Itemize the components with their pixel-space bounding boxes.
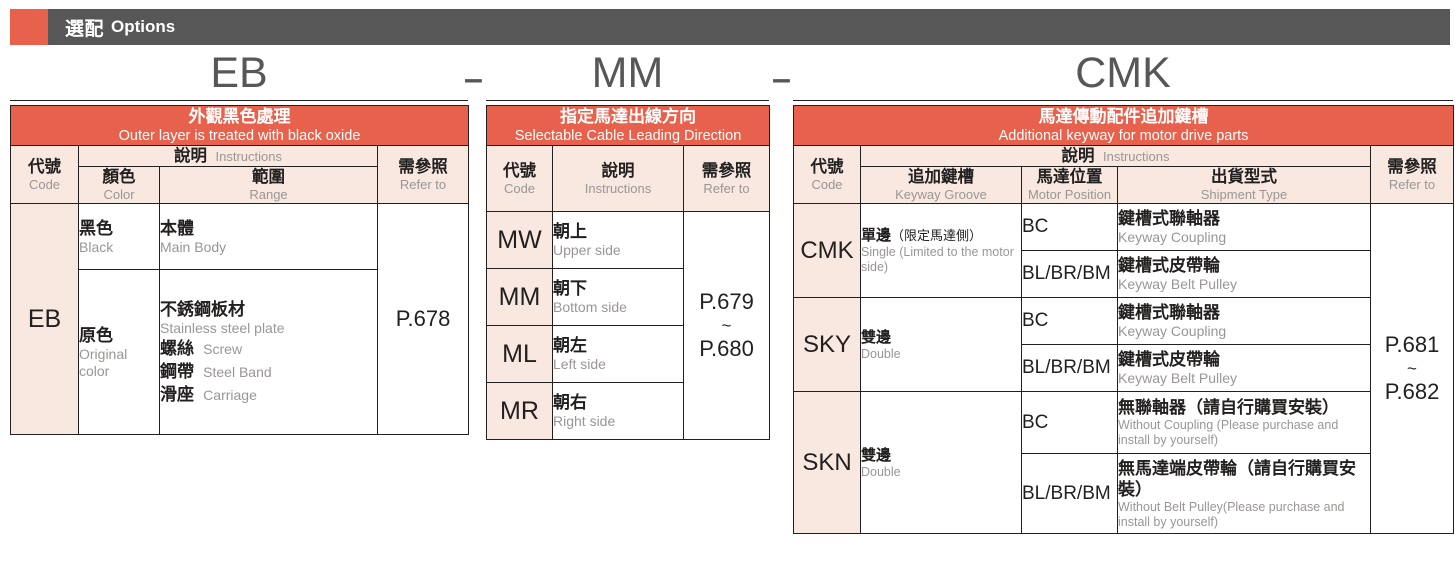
- col-header-color-cn: 顏色: [79, 167, 159, 187]
- cell-direction-bottom-cn: 朝下: [553, 278, 683, 299]
- table-row: MW 朝上 Upper side P.679 ~ P.680: [487, 212, 770, 269]
- col-header-code: 代號 Code: [487, 146, 553, 212]
- cell-shipment-keyway-coupling-en: Keyway Coupling: [1118, 323, 1370, 340]
- cell-shipment-keyway-coupling-cn: 鍵槽式聯軸器: [1118, 208, 1370, 229]
- banner-bar: 選配 Options: [48, 9, 1450, 45]
- col-header-refer-to-en: Refer to: [684, 181, 769, 197]
- table-cmk: 馬達傳動配件追加鍵槽 Additional keyway for motor d…: [793, 105, 1454, 534]
- banner-accent-swatch: [10, 9, 48, 45]
- cell-range-main-body-cn: 本體: [160, 218, 377, 239]
- col-header-motor-position-en: Motor Position: [1022, 187, 1117, 203]
- cell-direction-bottom: 朝下 Bottom side: [553, 269, 684, 326]
- col-header-shipment-type-en: Shipment Type: [1118, 187, 1370, 203]
- table-row: 馬達傳動配件追加鍵槽 Additional keyway for motor d…: [794, 106, 1454, 146]
- table-row: 代號 Code 說明 Instructions 需參照 Refer to: [487, 146, 770, 212]
- cell-motor-position-bc: BC: [1022, 204, 1118, 251]
- col-header-code-cn: 代號: [794, 157, 860, 177]
- cell-direction-bottom-en: Bottom side: [553, 299, 683, 316]
- cell-motor-position-blbrbm: BL/BR/BM: [1022, 454, 1118, 534]
- section-title-mm: MM: [486, 50, 769, 101]
- cell-range-steel-band: 鋼帶 Steel Band: [160, 361, 377, 383]
- cell-shipment-without-coupling-cn: 無聯軸器（請自行購買安裝）: [1118, 397, 1370, 418]
- table-eb-title-cell: 外觀黑色處理 Outer layer is treated with black…: [11, 106, 469, 146]
- cell-direction-left: 朝左 Left side: [553, 326, 684, 383]
- cell-keyway-double-skn: 雙邊 Double: [861, 392, 1022, 534]
- table-eb-title-en: Outer layer is treated with black oxide: [11, 127, 468, 145]
- cell-keyway-double-skn-en: Double: [861, 465, 1021, 480]
- table-row: 代號 Code 說明 Instructions 需參照 Refer to: [11, 146, 469, 167]
- col-header-range: 範圍 Range: [160, 167, 378, 204]
- col-header-motor-position: 馬達位置 Motor Position: [1022, 167, 1118, 204]
- cell-direction-right-en: Right side: [553, 413, 683, 430]
- cell-direction-left-en: Left side: [553, 356, 683, 373]
- cell-shipment-keyway-coupling: 鍵槽式聯軸器 Keyway Coupling: [1118, 298, 1371, 345]
- col-header-refer-to-cn: 需參照: [378, 157, 468, 177]
- cell-keyway-double-sky-cn: 雙邊: [861, 328, 1021, 347]
- cell-motor-position-bc: BC: [1022, 392, 1118, 454]
- cell-direction-upper-cn: 朝上: [553, 221, 683, 242]
- cell-range-carriage-en: Carriage: [203, 387, 257, 403]
- cell-refer-to-cmk-line1: P.681: [1385, 332, 1440, 357]
- table-cmk-title-cn: 馬達傳動配件追加鍵槽: [794, 106, 1453, 127]
- cell-color-original-cn: 原色: [79, 325, 159, 346]
- options-banner: 選配 Options: [10, 9, 1450, 45]
- cell-refer-to-mm-tilde: ~: [684, 316, 769, 335]
- col-header-code-en: Code: [11, 177, 78, 193]
- cell-keyway-double-sky: 雙邊 Double: [861, 298, 1022, 392]
- cell-color-black: 黑色 Black: [79, 204, 160, 270]
- cell-shipment-without-coupling-en: Without Coupling (Please purchase and in…: [1118, 418, 1370, 448]
- cell-color-black-en: Black: [79, 239, 159, 256]
- col-header-code-cn: 代號: [487, 161, 552, 181]
- cell-range-screw: 螺絲 Screw: [160, 338, 377, 360]
- cell-shipment-keyway-belt-pulley: 鍵槽式皮帶輪 Keyway Belt Pulley: [1118, 251, 1371, 298]
- table-row: CMK 單邊（限定馬達側） Single (Limited to the mot…: [794, 204, 1454, 251]
- section-title-cmk: CMK: [793, 50, 1453, 101]
- cell-range-steel-band-cn: 鋼帶: [160, 362, 194, 381]
- col-header-code-en: Code: [487, 181, 552, 197]
- cell-keyway-single-cn: 單邊（限定馬達側）: [861, 226, 1021, 245]
- cell-keyway-single: 單邊（限定馬達側） Single (Limited to the motor s…: [861, 204, 1022, 298]
- section-title-eb: EB: [10, 50, 468, 101]
- table-row: 代號 Code 說明 Instructions 需參照 Refer to: [794, 146, 1454, 167]
- cell-shipment-without-belt-pulley: 無馬達端皮帶輪（請自行購買安裝） Without Belt Pulley(Ple…: [1118, 454, 1371, 534]
- cell-range-main-body: 本體 Main Body: [160, 204, 378, 270]
- table-mm-title-en: Selectable Cable Leading Direction: [487, 127, 769, 145]
- cell-shipment-keyway-belt-pulley-cn: 鍵槽式皮帶輪: [1118, 349, 1370, 370]
- cell-code-eb: EB: [11, 204, 79, 435]
- col-header-code-en: Code: [794, 177, 860, 193]
- col-header-range-cn: 範圍: [160, 167, 377, 187]
- cell-code-skn: SKN: [794, 392, 861, 534]
- table-eb-title-cn: 外觀黑色處理: [11, 106, 468, 127]
- table-row: SKY 雙邊 Double BC 鍵槽式聯軸器 Keyway Coupling: [794, 298, 1454, 345]
- cell-shipment-keyway-coupling-en: Keyway Coupling: [1118, 229, 1370, 246]
- table-row: SKN 雙邊 Double BC 無聯軸器（請自行購買安裝） Without C…: [794, 392, 1454, 454]
- cell-direction-upper-en: Upper side: [553, 242, 683, 259]
- col-header-shipment-type-cn: 出貨型式: [1118, 167, 1370, 187]
- table-cmk-title-en: Additional keyway for motor drive parts: [794, 127, 1453, 145]
- col-header-instructions-en: Instructions: [215, 149, 281, 164]
- cell-color-original: 原色 Original color: [79, 270, 160, 435]
- cell-shipment-keyway-coupling: 鍵槽式聯軸器 Keyway Coupling: [1118, 204, 1371, 251]
- col-header-code: 代號 Code: [11, 146, 79, 204]
- col-header-color: 顏色 Color: [79, 167, 160, 204]
- cell-refer-to-mm-line2: P.680: [699, 336, 754, 361]
- col-header-refer-to: 需參照 Refer to: [378, 146, 469, 204]
- table-row: 外觀黑色處理 Outer layer is treated with black…: [11, 106, 469, 146]
- cell-direction-right-cn: 朝右: [553, 392, 683, 413]
- cell-range-carriage-cn: 滑座: [160, 385, 194, 404]
- col-header-range-en: Range: [160, 187, 377, 203]
- cell-shipment-keyway-coupling-cn: 鍵槽式聯軸器: [1118, 302, 1370, 323]
- cell-motor-position-blbrbm: BL/BR/BM: [1022, 345, 1118, 392]
- col-header-shipment-type: 出貨型式 Shipment Type: [1118, 167, 1371, 204]
- title-separator-dash-1: –: [464, 62, 483, 96]
- cell-color-black-cn: 黑色: [79, 218, 159, 239]
- banner-title-en: Options: [111, 17, 175, 37]
- col-header-refer-to: 需參照 Refer to: [1371, 146, 1454, 204]
- col-header-refer-to: 需參照 Refer to: [684, 146, 770, 212]
- cell-shipment-without-belt-pulley-cn: 無馬達端皮帶輪（請自行購買安裝）: [1118, 458, 1370, 500]
- cell-keyway-single-en: Single (Limited to the motor side): [861, 245, 1021, 275]
- table-cmk-title-cell: 馬達傳動配件追加鍵槽 Additional keyway for motor d…: [794, 106, 1454, 146]
- cell-shipment-keyway-belt-pulley-en: Keyway Belt Pulley: [1118, 276, 1370, 293]
- cell-code-sky: SKY: [794, 298, 861, 392]
- cell-code-cmk: CMK: [794, 204, 861, 298]
- table-row: EB 黑色 Black 本體 Main Body P.678: [11, 204, 469, 270]
- col-header-code-cn: 代號: [11, 157, 78, 177]
- cell-range-screw-cn: 螺絲: [160, 339, 194, 358]
- banner-title-cn: 選配: [65, 14, 104, 41]
- cell-direction-right: 朝右 Right side: [553, 383, 684, 440]
- cell-direction-upper: 朝上 Upper side: [553, 212, 684, 269]
- cell-refer-to-mm-line1: P.679: [699, 289, 754, 314]
- cell-shipment-keyway-belt-pulley: 鍵槽式皮帶輪 Keyway Belt Pulley: [1118, 345, 1371, 392]
- col-header-instructions: 說明 Instructions: [553, 146, 684, 212]
- cell-refer-to-cmk-tilde: ~: [1371, 359, 1453, 378]
- cell-shipment-without-belt-pulley-en: Without Belt Pulley(Please purchase and …: [1118, 500, 1370, 530]
- cell-motor-position-blbrbm: BL/BR/BM: [1022, 251, 1118, 298]
- cell-range-stainless-cn: 不銹鋼板材: [160, 299, 377, 320]
- cell-motor-position-bc: BC: [1022, 298, 1118, 345]
- col-header-instructions-en: Instructions: [1103, 149, 1169, 164]
- title-separator-dash-2: –: [772, 62, 791, 96]
- cell-code-mw: MW: [487, 212, 553, 269]
- col-header-refer-to-cn: 需參照: [1371, 157, 1453, 177]
- cell-shipment-keyway-belt-pulley-en: Keyway Belt Pulley: [1118, 370, 1370, 387]
- cell-keyway-double-sky-en: Double: [861, 347, 1021, 362]
- col-header-keyway-groove: 追加鍵槽 Keyway Groove: [861, 167, 1022, 204]
- cell-refer-to-mm: P.679 ~ P.680: [684, 212, 770, 440]
- table-mm-title-cn: 指定馬達出線方向: [487, 106, 769, 127]
- col-header-instructions-en: Instructions: [553, 181, 683, 197]
- col-header-keyway-groove-en: Keyway Groove: [861, 187, 1021, 203]
- table-mm-title-cell: 指定馬達出線方向 Selectable Cable Leading Direct…: [487, 106, 770, 146]
- col-header-motor-position-cn: 馬達位置: [1022, 167, 1117, 187]
- table-eb: 外觀黑色處理 Outer layer is treated with black…: [10, 105, 469, 435]
- table-row: 追加鍵槽 Keyway Groove 馬達位置 Motor Position 出…: [794, 167, 1454, 204]
- cell-color-original-en: Original color: [79, 346, 159, 380]
- col-header-instructions-cn: 說明: [174, 147, 207, 165]
- table-mm: 指定馬達出線方向 Selectable Cable Leading Direct…: [486, 105, 770, 440]
- col-header-color-en: Color: [79, 187, 159, 203]
- cell-keyway-double-skn-cn: 雙邊: [861, 446, 1021, 465]
- cell-range-screw-en: Screw: [203, 341, 242, 357]
- col-header-instructions: 說明 Instructions: [861, 146, 1371, 167]
- cell-direction-left-cn: 朝左: [553, 335, 683, 356]
- col-header-refer-to-en: Refer to: [378, 177, 468, 193]
- cell-code-ml: ML: [487, 326, 553, 383]
- cell-refer-to-cmk-line2: P.682: [1385, 379, 1440, 404]
- cell-shipment-without-coupling: 無聯軸器（請自行購買安裝） Without Coupling (Please p…: [1118, 392, 1371, 454]
- cell-range-main-body-en: Main Body: [160, 239, 377, 256]
- cell-code-mr: MR: [487, 383, 553, 440]
- cell-refer-to-eb: P.678: [378, 204, 469, 435]
- col-header-instructions: 說明 Instructions: [79, 146, 378, 167]
- col-header-refer-to-en: Refer to: [1371, 177, 1453, 193]
- cell-range-steel-band-en: Steel Band: [203, 364, 272, 380]
- table-row: 指定馬達出線方向 Selectable Cable Leading Direct…: [487, 106, 770, 146]
- col-header-instructions-cn: 說明: [1062, 147, 1095, 165]
- cell-range-carriage: 滑座 Carriage: [160, 384, 377, 406]
- cell-code-mm: MM: [487, 269, 553, 326]
- col-header-instructions-cn: 說明: [553, 161, 683, 181]
- cell-range-stainless-en: Stainless steel plate: [160, 320, 377, 337]
- cell-refer-to-cmk: P.681 ~ P.682: [1371, 204, 1454, 534]
- cell-shipment-keyway-belt-pulley-cn: 鍵槽式皮帶輪: [1118, 255, 1370, 276]
- col-header-refer-to-cn: 需參照: [684, 161, 769, 181]
- col-header-keyway-groove-cn: 追加鍵槽: [861, 167, 1021, 187]
- cell-range-stainless: 不銹鋼板材 Stainless steel plate 螺絲 Screw 鋼帶 …: [160, 270, 378, 435]
- col-header-code: 代號 Code: [794, 146, 861, 204]
